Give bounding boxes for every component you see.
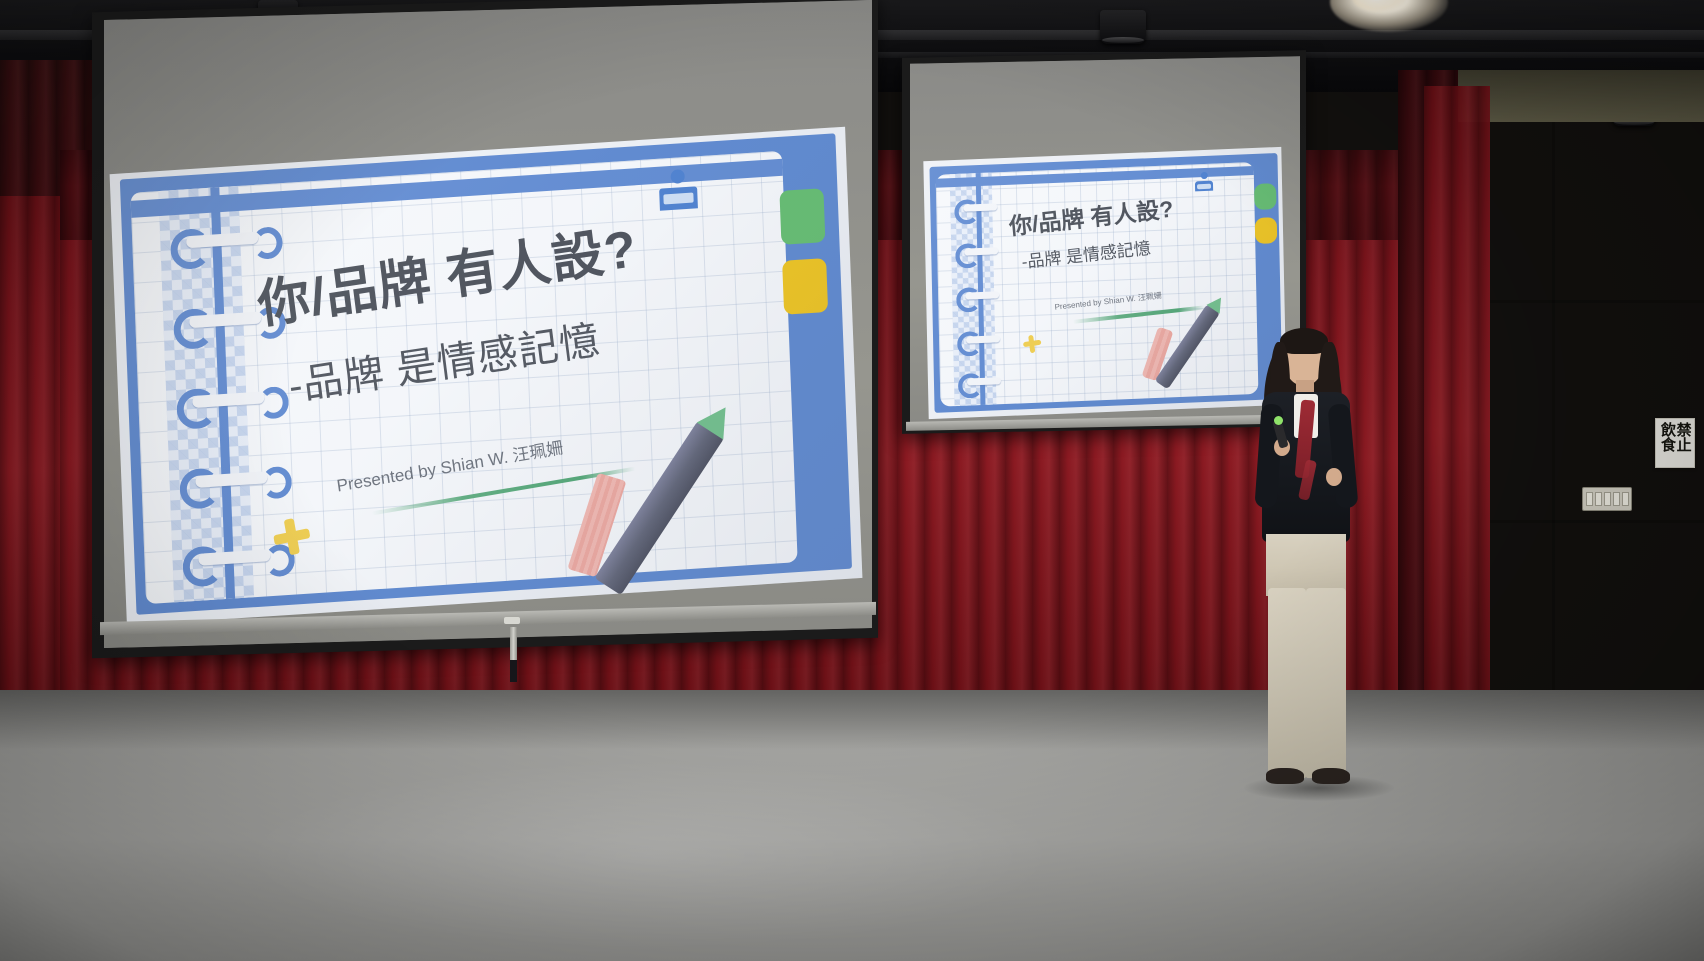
no-eating-drinking-sign: 禁止飲食 xyxy=(1655,418,1695,468)
presenter-left-leg xyxy=(1268,588,1306,778)
plus-decoration-icon xyxy=(271,515,313,558)
presenter-left-shoe xyxy=(1266,768,1304,784)
floor-light-pool xyxy=(240,760,1060,950)
slide-tab-yellow xyxy=(782,258,828,315)
presenter-trousers xyxy=(1266,534,1346,596)
floor-shadow xyxy=(0,690,1704,750)
switch-toggle[interactable] xyxy=(1622,492,1629,506)
switch-toggle[interactable] xyxy=(1586,492,1593,506)
ceiling-spotlight-icon xyxy=(1100,10,1146,44)
main-projection-screen: 你/品牌 有人設? -品牌 是情感記憶 Presented by Shian W… xyxy=(104,0,872,648)
lecture-hall-photo: 禁止飲食 xyxy=(0,0,1704,961)
presenter-right-hand xyxy=(1326,468,1342,486)
curtain-right-red xyxy=(1424,86,1490,710)
presenter-right-shoe xyxy=(1312,768,1350,784)
slide-tab-green xyxy=(779,188,825,245)
presenter xyxy=(1240,320,1400,800)
switch-toggle[interactable] xyxy=(1595,492,1602,506)
light-switch-panel[interactable] xyxy=(1582,487,1632,511)
switch-toggle[interactable] xyxy=(1604,492,1611,506)
main-slide: 你/品牌 有人設? -品牌 是情感記憶 Presented by Shian W… xyxy=(110,127,863,626)
screen-roller-button[interactable] xyxy=(504,617,520,624)
presenter-right-leg xyxy=(1306,588,1346,778)
person-illustration-icon xyxy=(652,168,710,218)
secondary-slide: 你/品牌 有人設? -品牌 是情感記憶 Presented by Shian W… xyxy=(923,147,1286,419)
microphone-indicator-icon xyxy=(1274,416,1283,425)
switch-toggle[interactable] xyxy=(1613,492,1620,506)
screen-pole-base xyxy=(510,660,517,682)
sign-text: 禁止飲食 xyxy=(1659,422,1690,464)
wall-seam-vertical xyxy=(1552,70,1555,710)
